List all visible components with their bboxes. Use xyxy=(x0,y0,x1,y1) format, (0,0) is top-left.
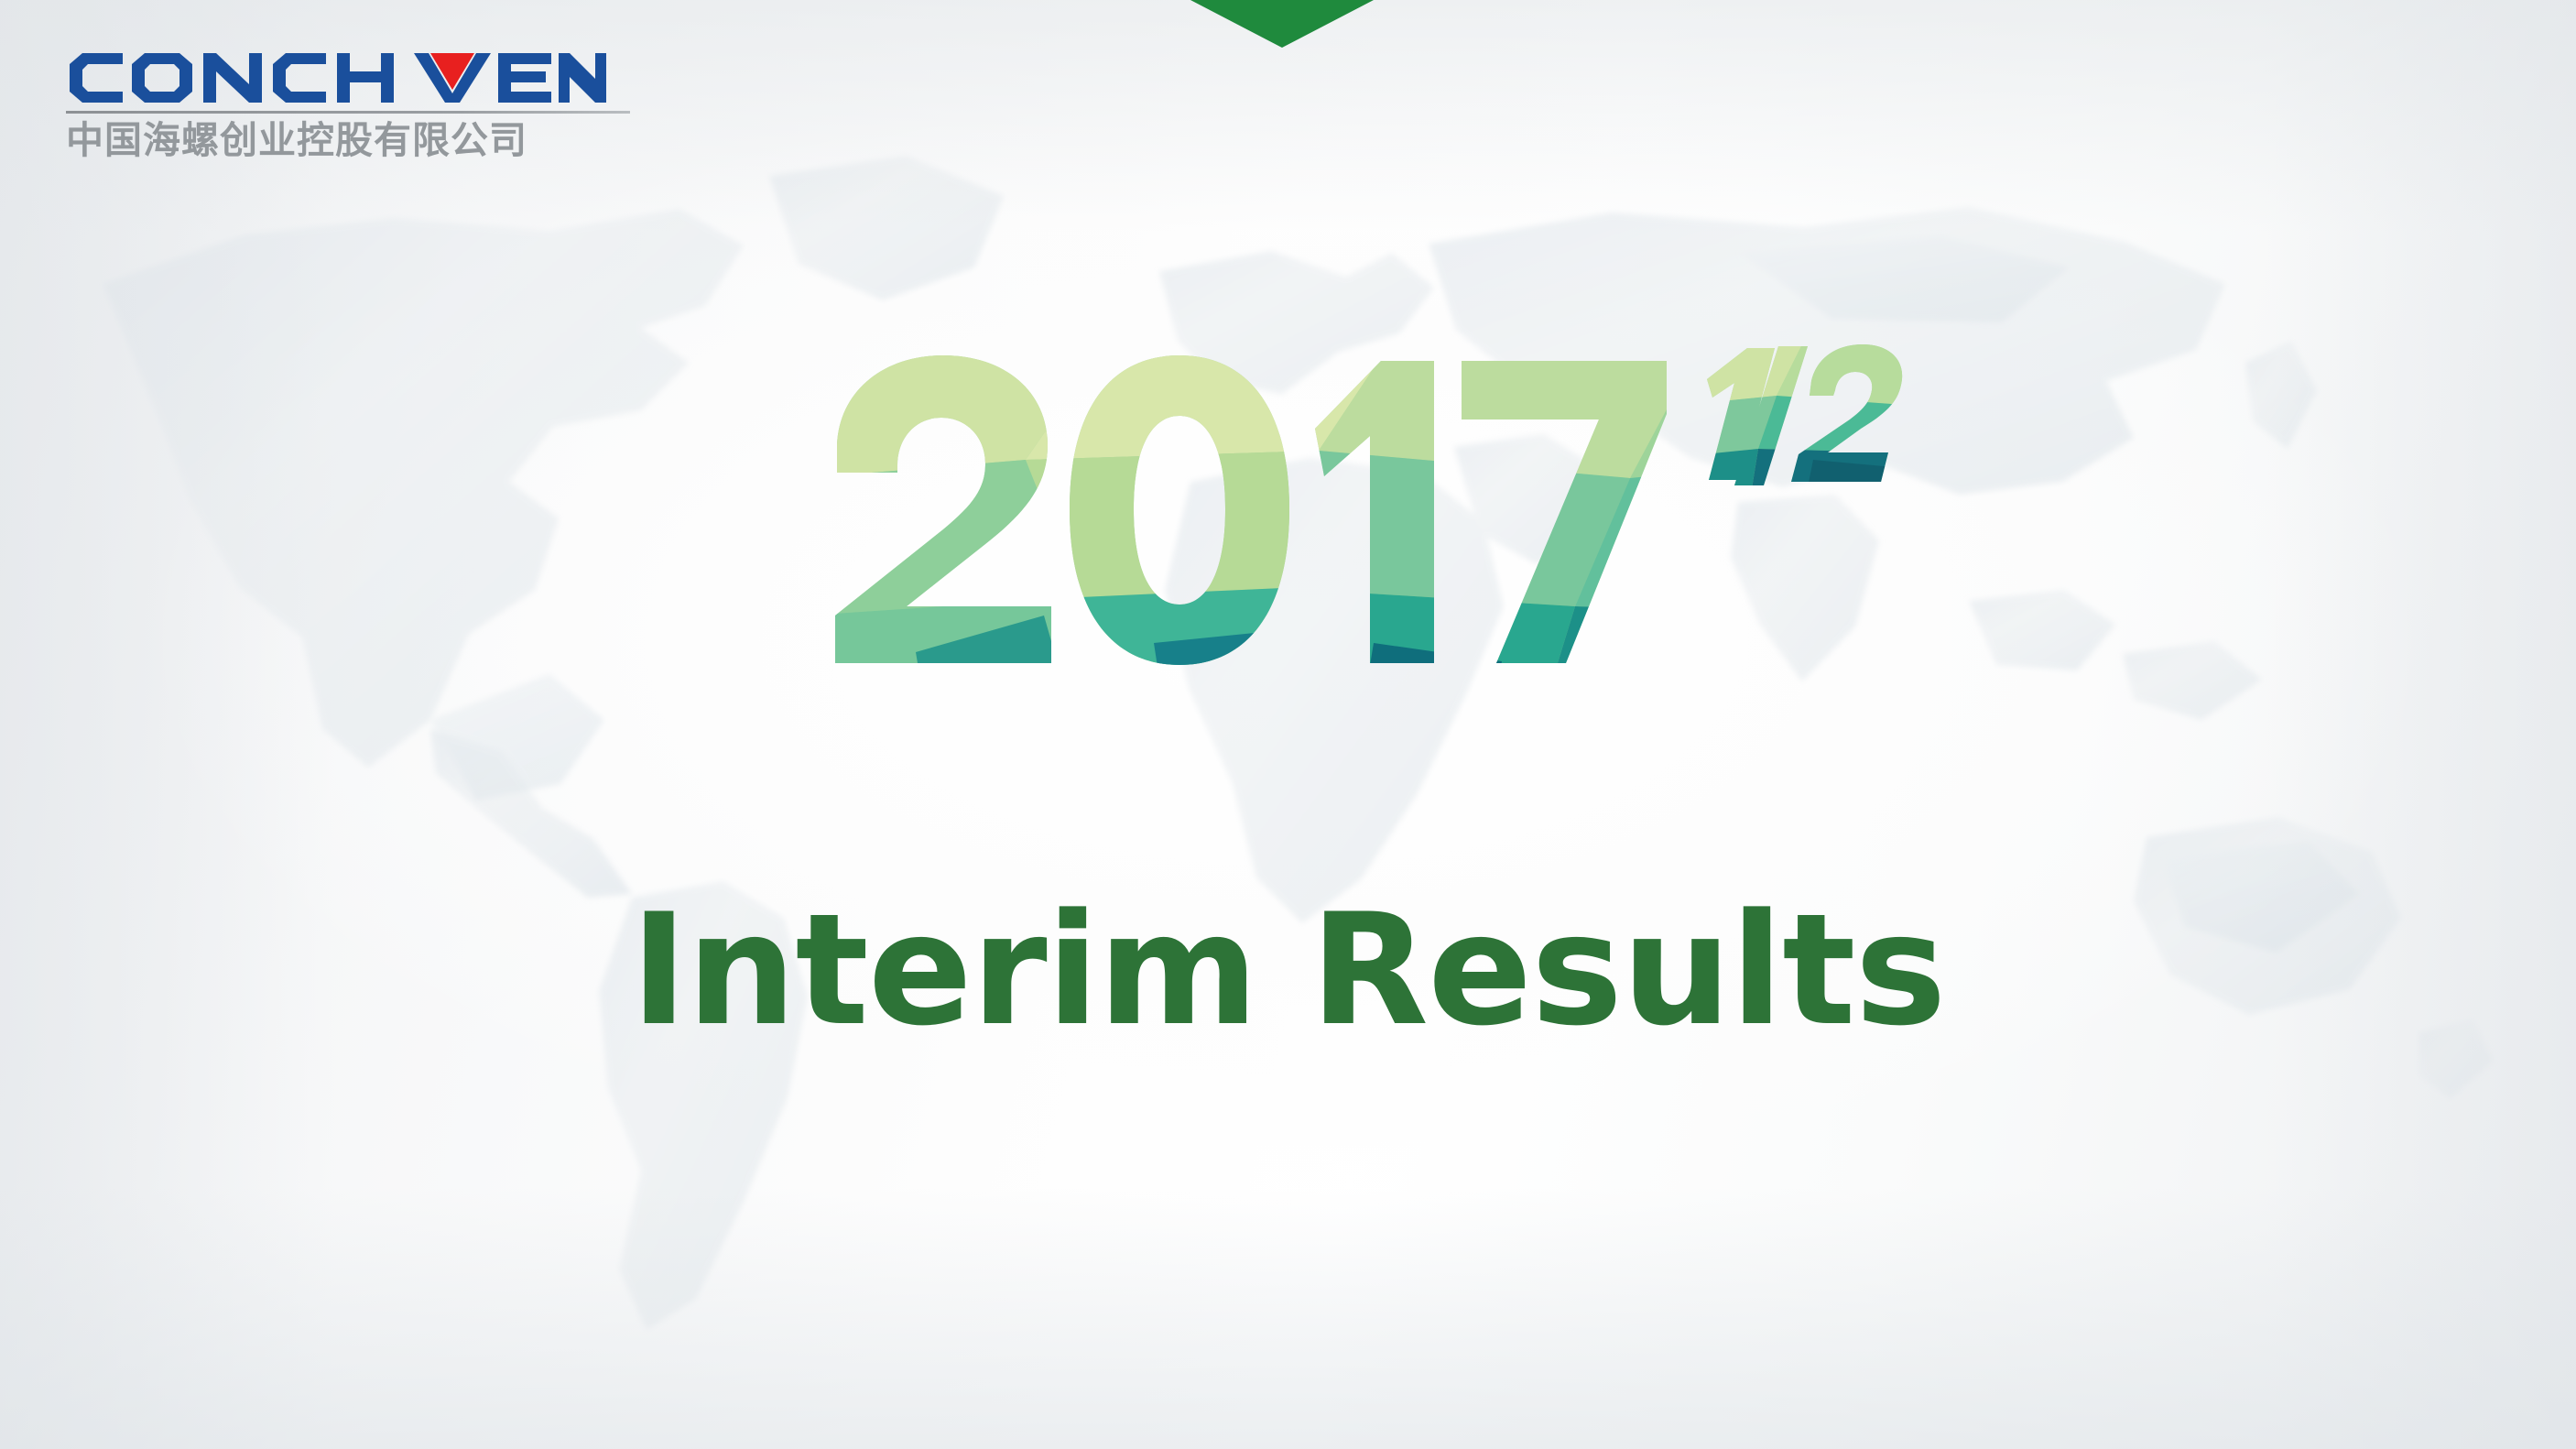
year-graphic xyxy=(806,341,1914,762)
company-logo: 中国海螺创业控股有限公司 xyxy=(66,51,652,159)
chevron-down-shape xyxy=(1190,0,1374,48)
logo-divider xyxy=(66,111,630,114)
page-title: Interim Results xyxy=(0,884,2576,1056)
title-slide: 中国海螺创业控股有限公司 xyxy=(0,0,2576,1449)
logo-chinese-name: 中国海螺创业控股有限公司 xyxy=(66,122,652,159)
